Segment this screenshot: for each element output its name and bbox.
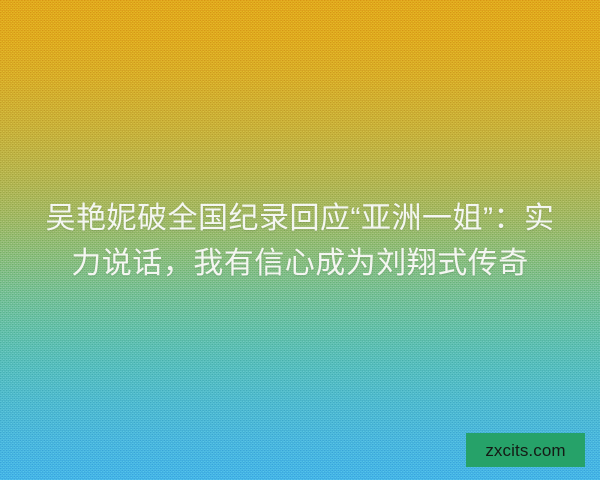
title-line-1: 吴艳妮破全国纪录回应“亚洲一姐”：实 xyxy=(26,196,574,241)
source-watermark-badge[interactable]: zxcits.com xyxy=(466,433,585,467)
title-line-2: 力说话，我有信心成为刘翔式传奇 xyxy=(26,241,574,286)
title-card: 吴艳妮破全国纪录回应“亚洲一姐”：实 力说话，我有信心成为刘翔式传奇 zxcit… xyxy=(0,0,600,480)
page-title: 吴艳妮破全国纪录回应“亚洲一姐”：实 力说话，我有信心成为刘翔式传奇 xyxy=(0,196,600,286)
source-watermark-label: zxcits.com xyxy=(485,442,565,459)
